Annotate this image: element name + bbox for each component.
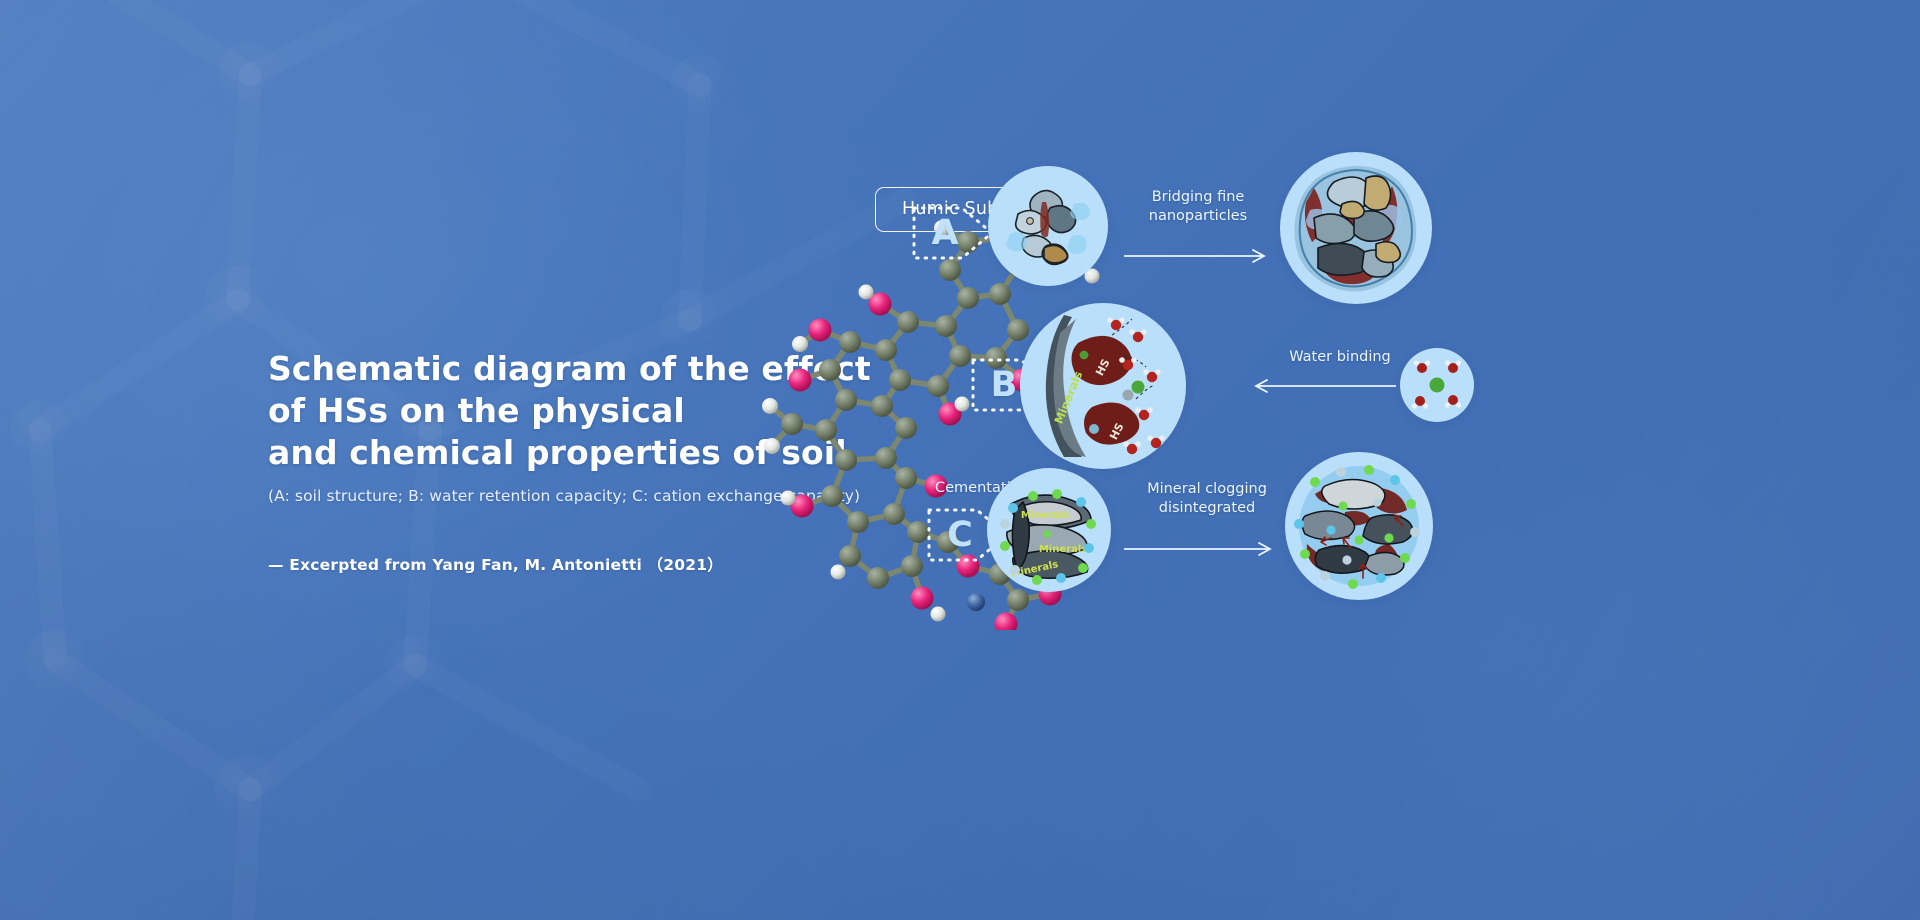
flow-label-water-binding: Water binding (1270, 348, 1410, 367)
flow-arrow-c (1122, 540, 1282, 558)
circle-loose-mineral-particles (988, 166, 1108, 286)
stage-marker-a-letter: A (910, 196, 996, 270)
circle-hs-coated-mineral-with-water: HS HS Minerals (1020, 303, 1186, 469)
circle-cemented-mineral-clog: Minerals Minerals Minerals (987, 468, 1111, 592)
stage-marker-a: A (910, 196, 996, 270)
flow-label-mineral-clogging: Mineral clogging disintegrated (1122, 480, 1292, 518)
flow-arrow-a (1122, 247, 1274, 265)
minerals-label-c1: Minerals (1021, 510, 1069, 521)
circle-disintegrated-minerals-with-cations (1285, 452, 1433, 600)
diagram-panel: Humic Substances (830, 0, 1920, 920)
circle-hydrated-cation-cluster (1400, 348, 1474, 422)
minerals-label-c2: Minerals (1039, 544, 1087, 555)
flow-arrow-b (1240, 377, 1400, 395)
circle-bound-soil-aggregate (1280, 152, 1432, 304)
flow-label-bridging: Bridging fine nanoparticles (1118, 188, 1278, 226)
